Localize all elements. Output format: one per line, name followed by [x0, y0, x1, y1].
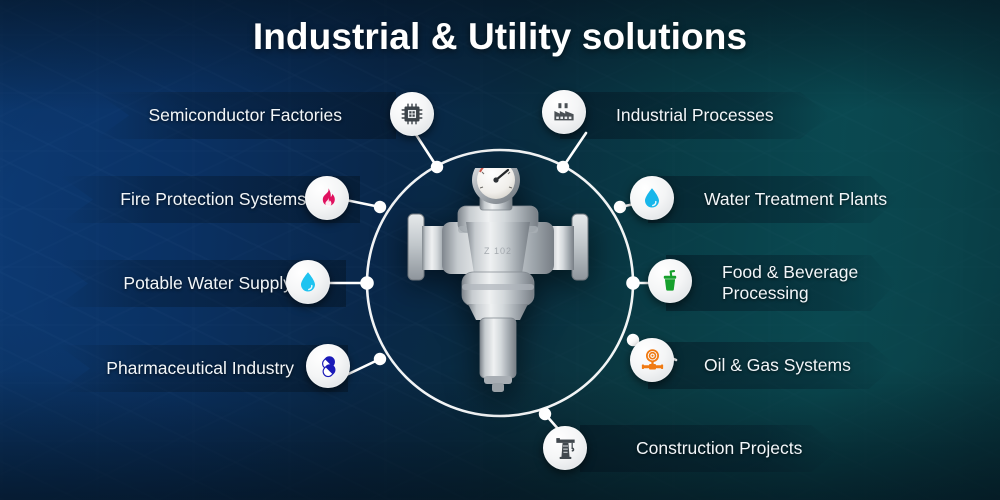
solution-label-pharmaceutical-industry: Pharmaceutical Industry [106, 358, 294, 379]
pipe-gauge-icon [640, 348, 665, 373]
solution-label-oil-gas-systems: Oil & Gas Systems [704, 355, 851, 376]
solution-banner-semiconductor-factories[interactable]: Semiconductor Factories [96, 92, 396, 139]
solution-label-construction-projects: Construction Projects [636, 438, 802, 459]
pressure-reducing-valve-image: Z 102 [398, 168, 598, 400]
solution-label-potable-water-supply: Potable Water Supply [123, 273, 292, 294]
page-title: Industrial & Utility solutions [0, 16, 1000, 58]
solution-label-fire-protection-systems: Fire Protection Systems [120, 189, 306, 210]
solution-icon-pharmaceutical-industry[interactable] [306, 344, 350, 388]
solution-icon-fire-protection-systems[interactable] [305, 176, 349, 220]
water-drop-icon [640, 186, 664, 210]
microchip-icon [400, 102, 424, 126]
solution-icon-semiconductor-factories[interactable] [390, 92, 434, 136]
factory-icon [552, 100, 576, 124]
solution-banner-food-beverage-processing[interactable]: Food & Beverage Processing [666, 255, 896, 311]
drink-cup-icon [658, 269, 682, 293]
solution-banner-pharmaceutical-industry[interactable]: Pharmaceutical Industry [58, 345, 348, 392]
solution-label-industrial-processes: Industrial Processes [616, 105, 774, 126]
solution-icon-construction-projects[interactable] [543, 426, 587, 470]
solution-label-water-treatment-plants: Water Treatment Plants [704, 189, 887, 210]
infographic-canvas: Industrial & Utility solutions [0, 0, 1000, 500]
solution-banner-industrial-processes[interactable]: Industrial Processes [560, 92, 830, 139]
water-drop-icon [296, 270, 320, 294]
solution-banner-oil-gas-systems[interactable]: Oil & Gas Systems [648, 342, 896, 389]
solution-icon-water-treatment-plants[interactable] [630, 176, 674, 220]
solution-label-food-beverage-processing: Food & Beverage Processing [722, 262, 858, 304]
solution-banner-construction-projects[interactable]: Construction Projects [580, 425, 840, 472]
solution-icon-oil-gas-systems[interactable] [630, 338, 674, 382]
tower-crane-icon [553, 436, 578, 461]
solution-label-semiconductor-factories: Semiconductor Factories [148, 105, 342, 126]
pills-icon [316, 354, 341, 379]
solution-icon-industrial-processes[interactable] [542, 90, 586, 134]
solution-banner-water-treatment-plants[interactable]: Water Treatment Plants [648, 176, 898, 223]
solution-icon-potable-water-supply[interactable] [286, 260, 330, 304]
solution-icon-food-beverage-processing[interactable] [648, 259, 692, 303]
flame-icon [315, 186, 339, 210]
svg-text:Z 102: Z 102 [484, 246, 512, 256]
